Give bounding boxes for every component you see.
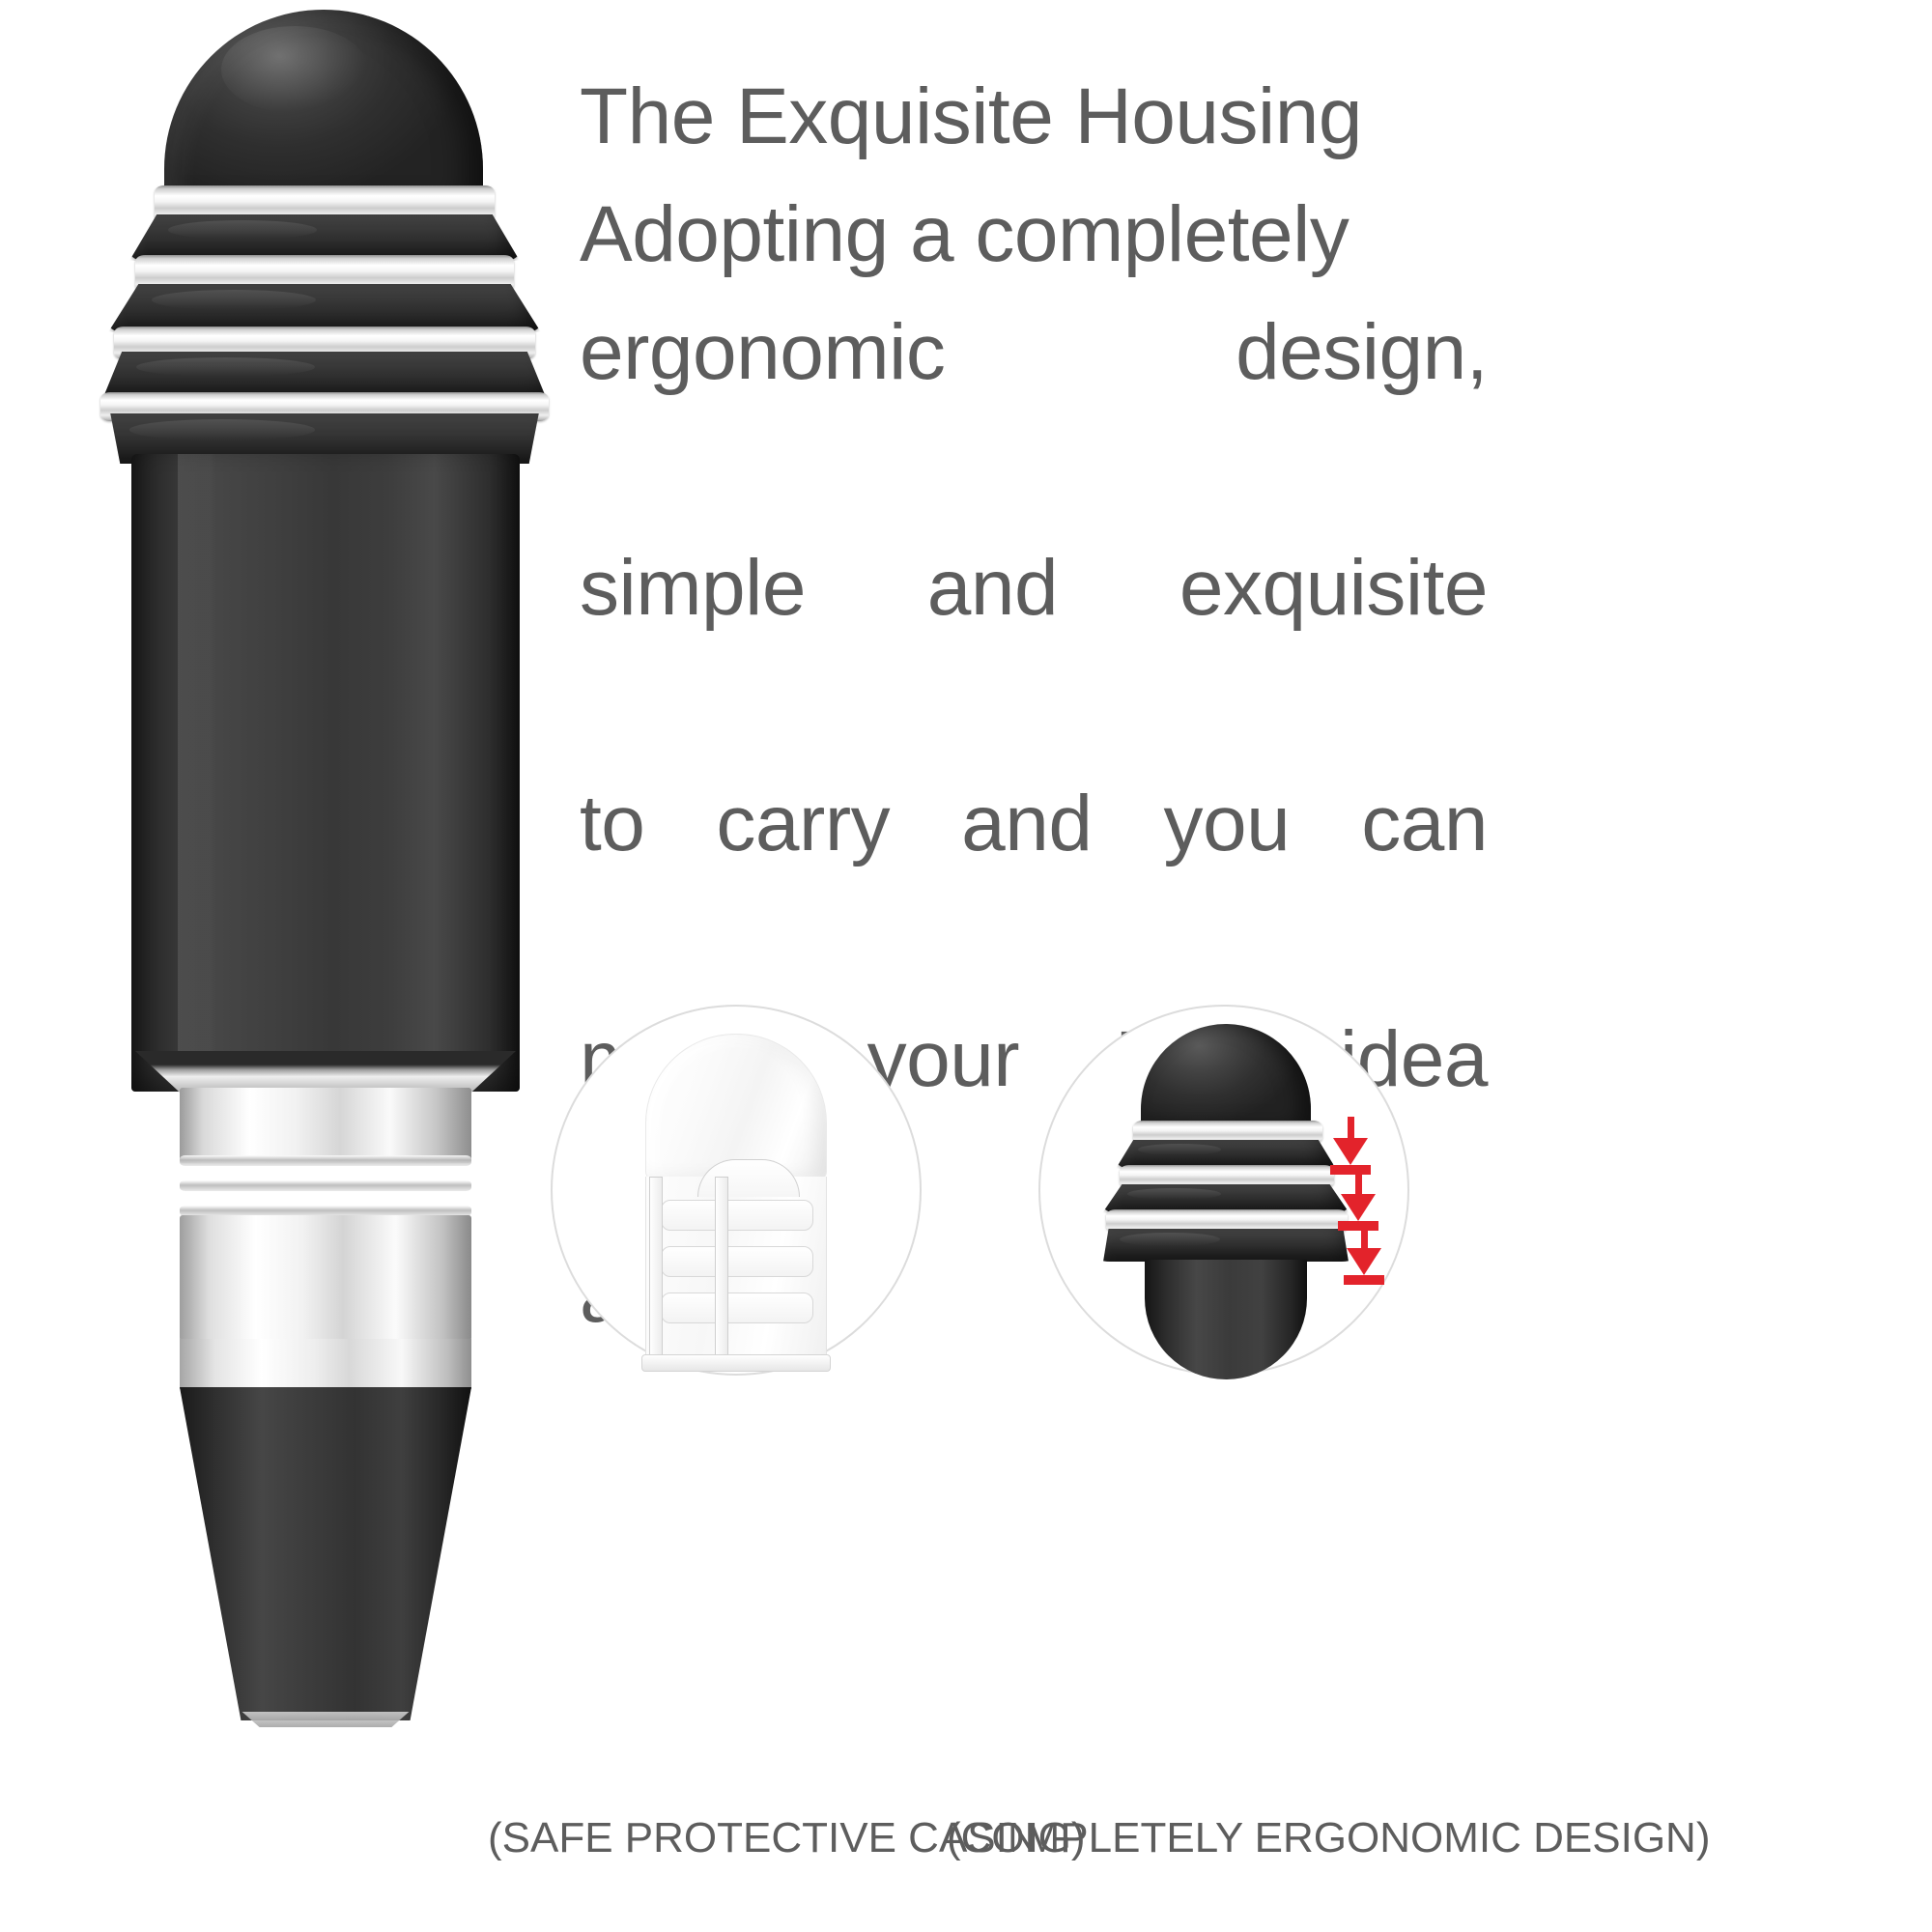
black-rubber-ring-3 [89,352,560,398]
tip-end [239,1712,412,1727]
caption-completely-ergonomic-design: (COMPLETELY ERGONOMIC DESIGN) [947,1814,1710,1862]
closeup-black-ring-3 [1093,1229,1359,1262]
inset-completely-ergonomic-design [1038,1005,1409,1376]
thread-groove-2 [180,1180,471,1191]
silver-tip-barrel [180,1215,471,1341]
cap-base-rim [641,1354,831,1372]
product-marketing-image: The Exquisite Housing Adopting a complet… [0,0,1932,1932]
headline-line-1: The Exquisite Housing [580,58,1488,176]
cap-column-left [649,1177,663,1360]
closeup-body [1145,1260,1307,1379]
silver-collar [180,1088,471,1163]
headline-line-4: simple and exquisite [580,529,1488,765]
inset-safe-protective-casing [551,1005,922,1376]
closeup-dome-cap [1141,1024,1311,1132]
black-rubber-ring-1 [129,214,520,261]
cap-rib-1 [661,1200,813,1231]
headline-line-5: to carry and you can [580,765,1488,1001]
red-down-arrow-icon-3 [1342,1227,1386,1287]
cap-rib-2 [661,1246,813,1277]
thread-groove-1 [180,1155,471,1166]
headline-line-3: ergonomic design, [580,294,1488,529]
red-down-arrow-icon-2 [1336,1173,1380,1233]
stylus-pen-hero [0,0,580,1932]
cap-column-right [715,1177,728,1360]
cap-rib-3 [661,1293,813,1323]
black-cone-tip [180,1387,471,1720]
barrel [131,454,520,1092]
red-down-arrow-icon-1 [1328,1117,1373,1177]
silver-shoulder [180,1339,471,1389]
black-rubber-ring-2 [108,284,541,332]
headline-line-2: Adopting a completely [580,176,1488,294]
cap-dome [645,1034,827,1179]
